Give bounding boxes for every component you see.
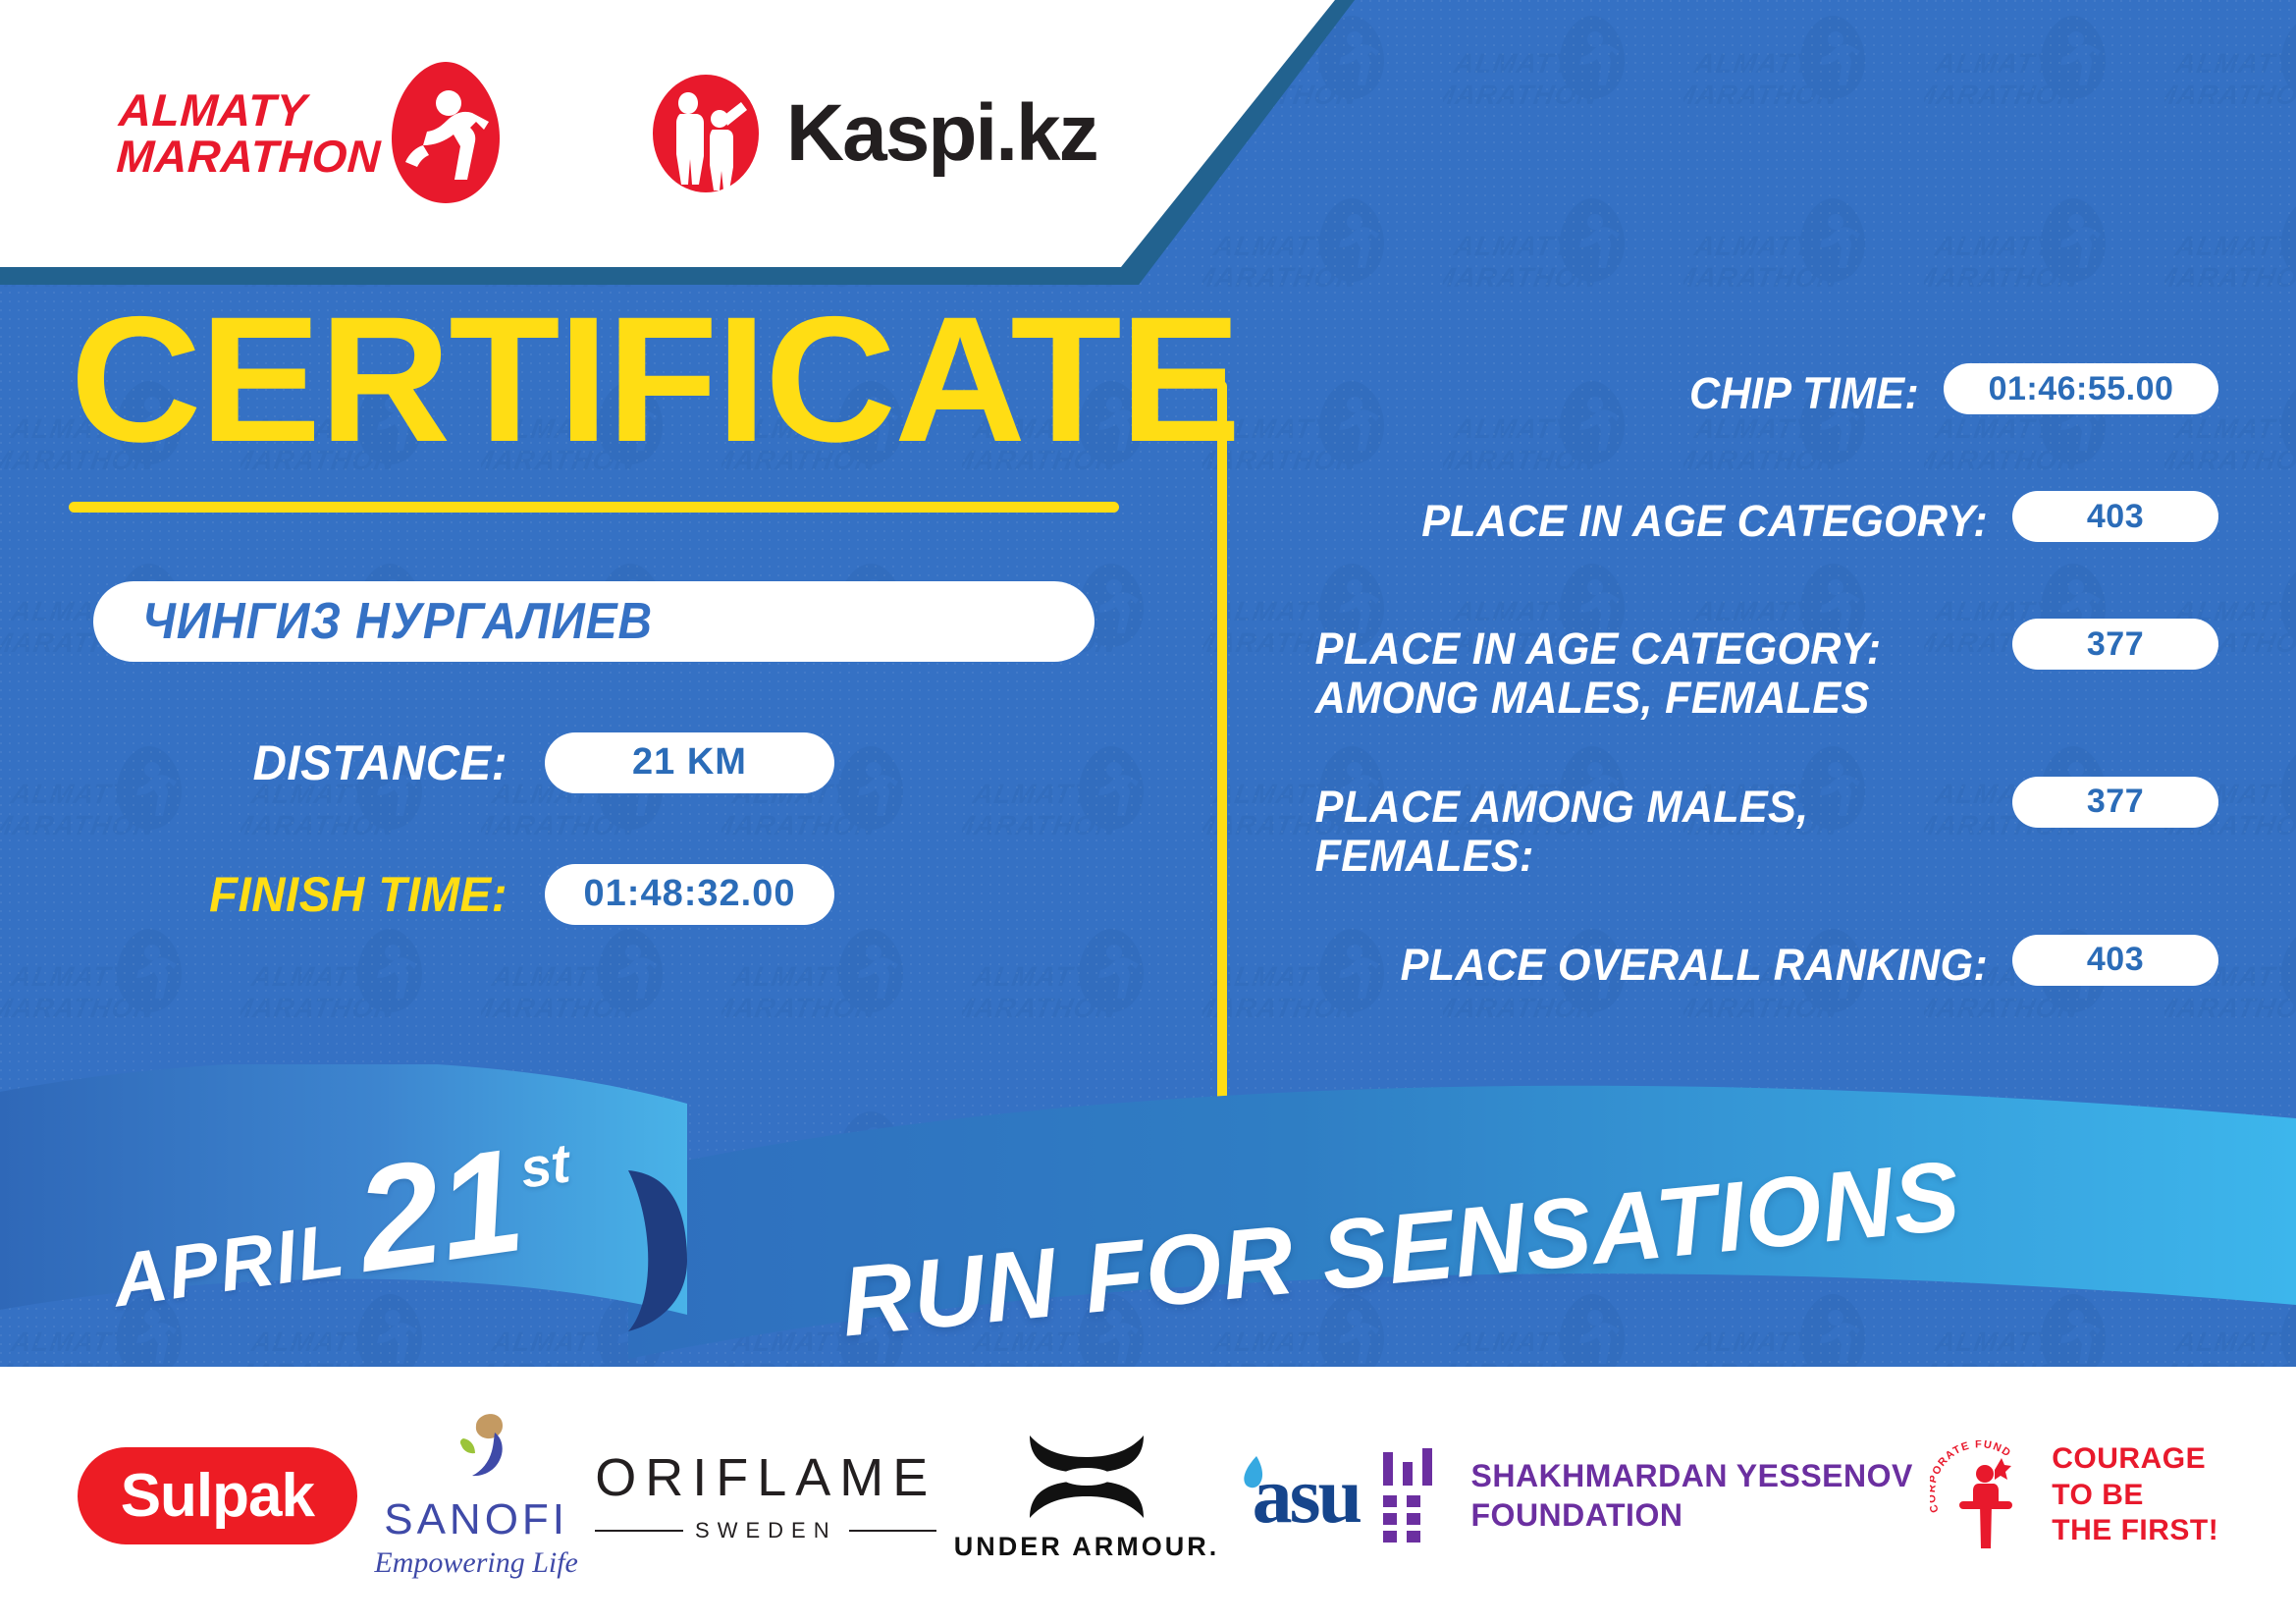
almaty-marathon-logo: ALMATY MARATHON [118, 60, 504, 207]
place-age-category-among-line2: AMONG MALES, FEMALES [1315, 673, 1870, 723]
place-age-category-value: 403 [2012, 491, 2218, 542]
sanofi-wordmark: SANOFI [384, 1495, 568, 1544]
place-age-category-among-value: 377 [2012, 619, 2218, 670]
kaspi-logo: Kaspi.kz [651, 73, 1097, 194]
participant-name-field: ЧИНГИЗ НУРГАЛИЕВ [93, 581, 1095, 662]
stat-row-chip-time: CHIP TIME: 01:46:55.00 [1276, 363, 2218, 438]
almaty-marathon-line1: ALMATY [118, 87, 384, 134]
sanofi-tagline: Empowering Life [374, 1546, 578, 1580]
almaty-marathon-runner-icon [388, 60, 504, 207]
finish-time-label: FINISH TIME: [116, 866, 545, 923]
event-month: APRIL [108, 1207, 351, 1324]
event-day-ordinal: st [516, 1130, 573, 1200]
event-slogan: RUN FOR SENSATIONS [836, 1139, 1965, 1359]
under-armour-mark-icon [1022, 1430, 1151, 1524]
vertical-divider [1217, 381, 1227, 1108]
under-armour-wordmark: UNDER ARMOUR. [954, 1532, 1220, 1562]
yessenov-bars-icon [1377, 1448, 1446, 1543]
place-among-males-females-line1: PLACE AMONG MALES, [1315, 782, 1809, 832]
place-among-males-females-line2: FEMALES: [1315, 831, 1534, 881]
stat-row-place-among-males-females: PLACE AMONG MALES, FEMALES: 377 [1276, 777, 2218, 882]
chip-time-value: 01:46:55.00 [1944, 363, 2218, 414]
event-day: 21 [350, 1137, 530, 1283]
place-overall-ranking-label: PLACE OVERALL RANKING: [1306, 935, 2012, 990]
title-underline [69, 502, 1119, 513]
finish-time-row: FINISH TIME: 01:48:32.00 [93, 864, 1075, 925]
yessenov-line1: SHAKHMARDAN YESSENOV [1471, 1456, 1913, 1495]
stat-row-place-overall-ranking: PLACE OVERALL RANKING: 403 [1276, 935, 2218, 1009]
event-date: APRIL 21 st [101, 1128, 596, 1325]
stat-row-place-age-category-among: PLACE IN AGE CATEGORY: AMONG MALES, FEMA… [1276, 619, 2218, 724]
place-age-category-among-label: PLACE IN AGE CATEGORY: AMONG MALES, FEMA… [1306, 619, 2012, 724]
sponsor-asu-logo: asu [1237, 1449, 1361, 1542]
oriflame-rule-right [849, 1530, 937, 1532]
sponsor-sanofi-logo: SANOFI Empowering Life [374, 1411, 578, 1580]
place-age-category-label: PLACE IN AGE CATEGORY: [1306, 491, 2012, 546]
distance-row: DISTANCE: 21 KM [93, 732, 1075, 793]
certificate-left-column: CERTIFICATE ЧИНГИЗ НУРГАЛИЕВ DISTANCE: 2… [0, 295, 1168, 925]
sponsor-yessenov-foundation-logo: SHAKHMARDAN YESSENOV FOUNDATION [1377, 1448, 1913, 1543]
page-title: CERTIFICATE [0, 295, 1192, 464]
courage-line1: COURAGE [2052, 1441, 2218, 1478]
sponsor-under-armour-logo: UNDER ARMOUR. [954, 1430, 1220, 1562]
oriflame-rule-left [595, 1530, 683, 1532]
courage-line2: TO BE [2052, 1478, 2218, 1514]
almaty-marathon-line2: MARATHON [116, 134, 382, 180]
oriflame-sub-row: SWEDEN [595, 1518, 936, 1543]
sponsor-courage-fund-logo: CORPORATE FUND COURAGE TO BE THE FIRST! [1930, 1440, 2218, 1550]
yessenov-line2: FOUNDATION [1471, 1495, 1913, 1535]
sponsor-sulpak-logo: Sulpak [78, 1447, 357, 1544]
sponsor-bar: Sulpak SANOFI Empowering Life ORIFLAME S… [0, 1367, 2296, 1624]
results-stats-panel: CHIP TIME: 01:46:55.00 PLACE IN AGE CATE… [1276, 363, 2218, 1062]
certificate-canvas: ALMATY MARATHON Kaspi.kz CERT [0, 0, 2296, 1624]
oriflame-sub: SWEDEN [695, 1518, 837, 1543]
courage-fund-mark-icon: CORPORATE FUND [1930, 1440, 2038, 1550]
yessenov-wordmark: SHAKHMARDAN YESSENOV FOUNDATION [1471, 1456, 1913, 1535]
finish-time-value: 01:48:32.00 [545, 864, 834, 925]
place-overall-ranking-value: 403 [2012, 935, 2218, 986]
kaspi-wordmark: Kaspi.kz [786, 87, 1097, 180]
courage-fund-wordmark: COURAGE TO BE THE FIRST! [2052, 1441, 2218, 1549]
header-logos: ALMATY MARATHON Kaspi.kz [0, 0, 1158, 267]
place-among-males-females-label: PLACE AMONG MALES, FEMALES: [1306, 777, 2012, 882]
participant-name: ЧИНГИЗ НУРГАЛИЕВ [142, 592, 653, 651]
almaty-marathon-wordmark: ALMATY MARATHON [116, 87, 385, 180]
stat-row-place-age-category: PLACE IN AGE CATEGORY: 403 [1276, 491, 2218, 566]
asu-wordmark: asu [1253, 1449, 1361, 1542]
kaspi-people-icon [651, 73, 761, 194]
sulpak-wordmark: Sulpak [121, 1461, 314, 1531]
sanofi-mark-icon [434, 1411, 518, 1493]
place-among-males-females-value: 377 [2012, 777, 2218, 828]
place-age-category-among-line1: PLACE IN AGE CATEGORY: [1315, 623, 1882, 674]
oriflame-wordmark: ORIFLAME [595, 1447, 936, 1508]
distance-label: DISTANCE: [116, 734, 545, 791]
chip-time-label: CHIP TIME: [1303, 363, 1944, 418]
courage-line3: THE FIRST! [2052, 1513, 2218, 1549]
distance-value: 21 KM [545, 732, 834, 793]
sponsor-oriflame-logo: ORIFLAME SWEDEN [595, 1447, 936, 1543]
